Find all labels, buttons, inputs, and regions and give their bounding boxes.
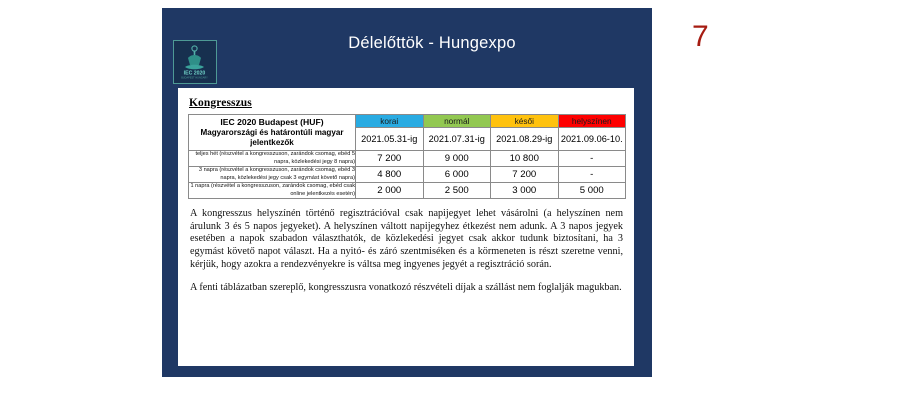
tier-header-helyszinen: helyszínen xyxy=(558,115,626,128)
table-title-line1: IEC 2020 Budapest (HUF) xyxy=(189,117,355,129)
tier-date-korai: 2021.05.31-ig xyxy=(356,128,424,151)
body-paragraph-2: A fenti táblázatban szereplő, kongresszu… xyxy=(187,282,625,295)
tier-header-korai: korai xyxy=(356,115,424,128)
section-heading: Kongresszus xyxy=(189,97,625,109)
row-price-kesoi: 3 000 xyxy=(491,183,559,199)
tier-date-helyszinen: 2021.09.06-10. xyxy=(558,128,626,151)
presentation-slide: IEC 2020 BUDAPEST HUNGARY Délelőttök - H… xyxy=(162,8,652,377)
tier-date-normal: 2021.07.31-ig xyxy=(423,128,491,151)
table-title-line2: Magyarországi és határontúli magyar jele… xyxy=(200,128,343,147)
table-row: 3 napra (részvétel a kongresszuson, zará… xyxy=(189,167,626,183)
iec-2020-logo: IEC 2020 BUDAPEST HUNGARY xyxy=(173,40,217,84)
page-title: Délelőttök - Hungexpo xyxy=(232,34,632,53)
row-price-helyszinen: 5 000 xyxy=(558,183,626,199)
row-price-normal: 6 000 xyxy=(423,167,491,183)
table-row: 1 napra (részvétel a kongresszuson, zará… xyxy=(189,183,626,199)
svg-text:BUDAPEST HUNGARY: BUDAPEST HUNGARY xyxy=(181,77,208,80)
pricing-table: IEC 2020 Budapest (HUF) Magyarországi és… xyxy=(188,114,626,199)
table-corner-label: IEC 2020 Budapest (HUF) Magyarországi és… xyxy=(189,115,356,151)
row-description: 1 napra (részvétel a kongresszuson, zará… xyxy=(189,183,356,199)
row-price-korai: 2 000 xyxy=(356,183,424,199)
row-description: 3 napra (részvétel a kongresszuson, zará… xyxy=(189,167,356,183)
row-price-korai: 4 800 xyxy=(356,167,424,183)
tier-header-kesoi: késői xyxy=(491,115,559,128)
page-number: 7 xyxy=(692,22,709,52)
table-header-row: IEC 2020 Budapest (HUF) Magyarországi és… xyxy=(189,115,626,128)
row-price-kesoi: 10 800 xyxy=(491,151,559,167)
row-price-korai: 7 200 xyxy=(356,151,424,167)
content-card: Kongresszus IEC 2020 Budapest (HUF) Magy… xyxy=(178,88,634,366)
svg-text:IEC 2020: IEC 2020 xyxy=(184,71,206,77)
tier-date-kesoi: 2021.08.29-ig xyxy=(491,128,559,151)
row-description: teljes hét (részvétel a kongresszuson, z… xyxy=(189,151,356,167)
row-price-helyszinen: - xyxy=(558,167,626,183)
table-row: teljes hét (részvétel a kongresszuson, z… xyxy=(189,151,626,167)
row-price-normal: 9 000 xyxy=(423,151,491,167)
tier-header-normal: normál xyxy=(423,115,491,128)
row-price-helyszinen: - xyxy=(558,151,626,167)
body-paragraph-1: A kongresszus helyszínén történő regiszt… xyxy=(187,208,625,271)
row-price-kesoi: 7 200 xyxy=(491,167,559,183)
row-price-normal: 2 500 xyxy=(423,183,491,199)
slide-page: IEC 2020 BUDAPEST HUNGARY Délelőttök - H… xyxy=(0,0,900,401)
logo-graphic: IEC 2020 BUDAPEST HUNGARY xyxy=(174,41,215,82)
